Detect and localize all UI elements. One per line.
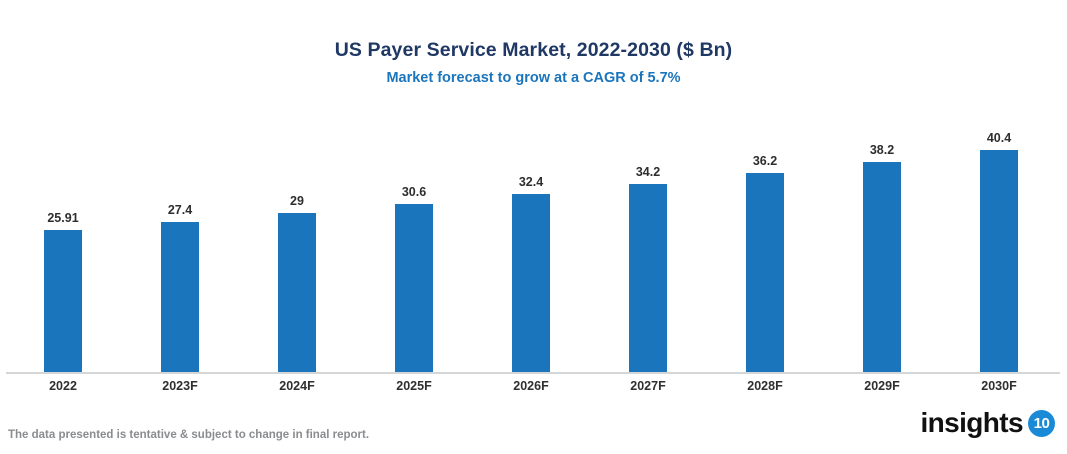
- bar-column: 27.4: [161, 110, 199, 373]
- bar-column: 30.6: [395, 110, 433, 373]
- bar-rect[interactable]: [746, 173, 784, 373]
- x-axis-line: [6, 372, 1060, 374]
- bar-value-label: 38.2: [870, 143, 894, 157]
- insights10-logo: insights 10: [920, 406, 1055, 440]
- bar-group-2024f[interactable]: 29: [239, 110, 356, 373]
- category-label-2026f: 2026F: [473, 376, 590, 396]
- bar-group-2025f[interactable]: 30.6: [356, 110, 473, 373]
- bar-column: 36.2: [746, 110, 784, 373]
- bar-rect[interactable]: [44, 230, 82, 373]
- bar-group-2022[interactable]: 25.91: [5, 110, 122, 373]
- category-label-2028f: 2028F: [707, 376, 824, 396]
- bar-group-2028f[interactable]: 36.2: [707, 110, 824, 373]
- category-label-2030f: 2030F: [941, 376, 1058, 396]
- brand-badge-icon: 10: [1028, 410, 1055, 437]
- category-label-2025f: 2025F: [356, 376, 473, 396]
- bar-value-label: 40.4: [987, 131, 1011, 145]
- bar-rect[interactable]: [863, 162, 901, 373]
- bar-column: 38.2: [863, 110, 901, 373]
- bar-value-label: 32.4: [519, 175, 543, 189]
- bar-column: 25.91: [44, 110, 82, 373]
- bar-group-2030f[interactable]: 40.4: [941, 110, 1058, 373]
- bar-column: 29: [278, 110, 316, 373]
- bar-rect[interactable]: [980, 150, 1018, 373]
- category-label-2029f: 2029F: [824, 376, 941, 396]
- bar-value-label: 27.4: [168, 203, 192, 217]
- category-label-2027f: 2027F: [590, 376, 707, 396]
- bar-group-2023f[interactable]: 27.4: [122, 110, 239, 373]
- disclaimer-text: The data presented is tentative & subjec…: [8, 428, 369, 442]
- bar-value-label: 34.2: [636, 165, 660, 179]
- bar-value-label: 36.2: [753, 154, 777, 168]
- category-label-2023f: 2023F: [122, 376, 239, 396]
- category-axis: 20222023F2024F2025F2026F2027F2028F2029F2…: [0, 376, 1067, 398]
- bar-value-label: 25.91: [47, 211, 78, 225]
- bar-rect[interactable]: [512, 194, 550, 373]
- bar-value-label: 29: [290, 194, 304, 208]
- chart-subtitle: Market forecast to grow at a CAGR of 5.7…: [0, 68, 1067, 88]
- chart-header: US Payer Service Market, 2022-2030 ($ Bn…: [0, 38, 1067, 88]
- chart-page: US Payer Service Market, 2022-2030 ($ Bn…: [0, 0, 1067, 454]
- bar-series: 25.9127.42930.632.434.236.238.240.4: [0, 110, 1067, 373]
- bar-value-label: 30.6: [402, 185, 426, 199]
- bar-rect[interactable]: [161, 222, 199, 373]
- bar-group-2029f[interactable]: 38.2: [824, 110, 941, 373]
- bar-column: 34.2: [629, 110, 667, 373]
- chart-title: US Payer Service Market, 2022-2030 ($ Bn…: [0, 38, 1067, 62]
- category-label-2022: 2022: [5, 376, 122, 396]
- brand-wordmark: insights: [920, 408, 1023, 438]
- category-label-2024f: 2024F: [239, 376, 356, 396]
- bar-rect[interactable]: [629, 184, 667, 373]
- bar-rect[interactable]: [395, 204, 433, 373]
- bar-column: 32.4: [512, 110, 550, 373]
- bar-rect[interactable]: [278, 213, 316, 373]
- plot-area: 25.9127.42930.632.434.236.238.240.4: [0, 110, 1067, 374]
- bar-group-2027f[interactable]: 34.2: [590, 110, 707, 373]
- bar-group-2026f[interactable]: 32.4: [473, 110, 590, 373]
- bar-column: 40.4: [980, 110, 1018, 373]
